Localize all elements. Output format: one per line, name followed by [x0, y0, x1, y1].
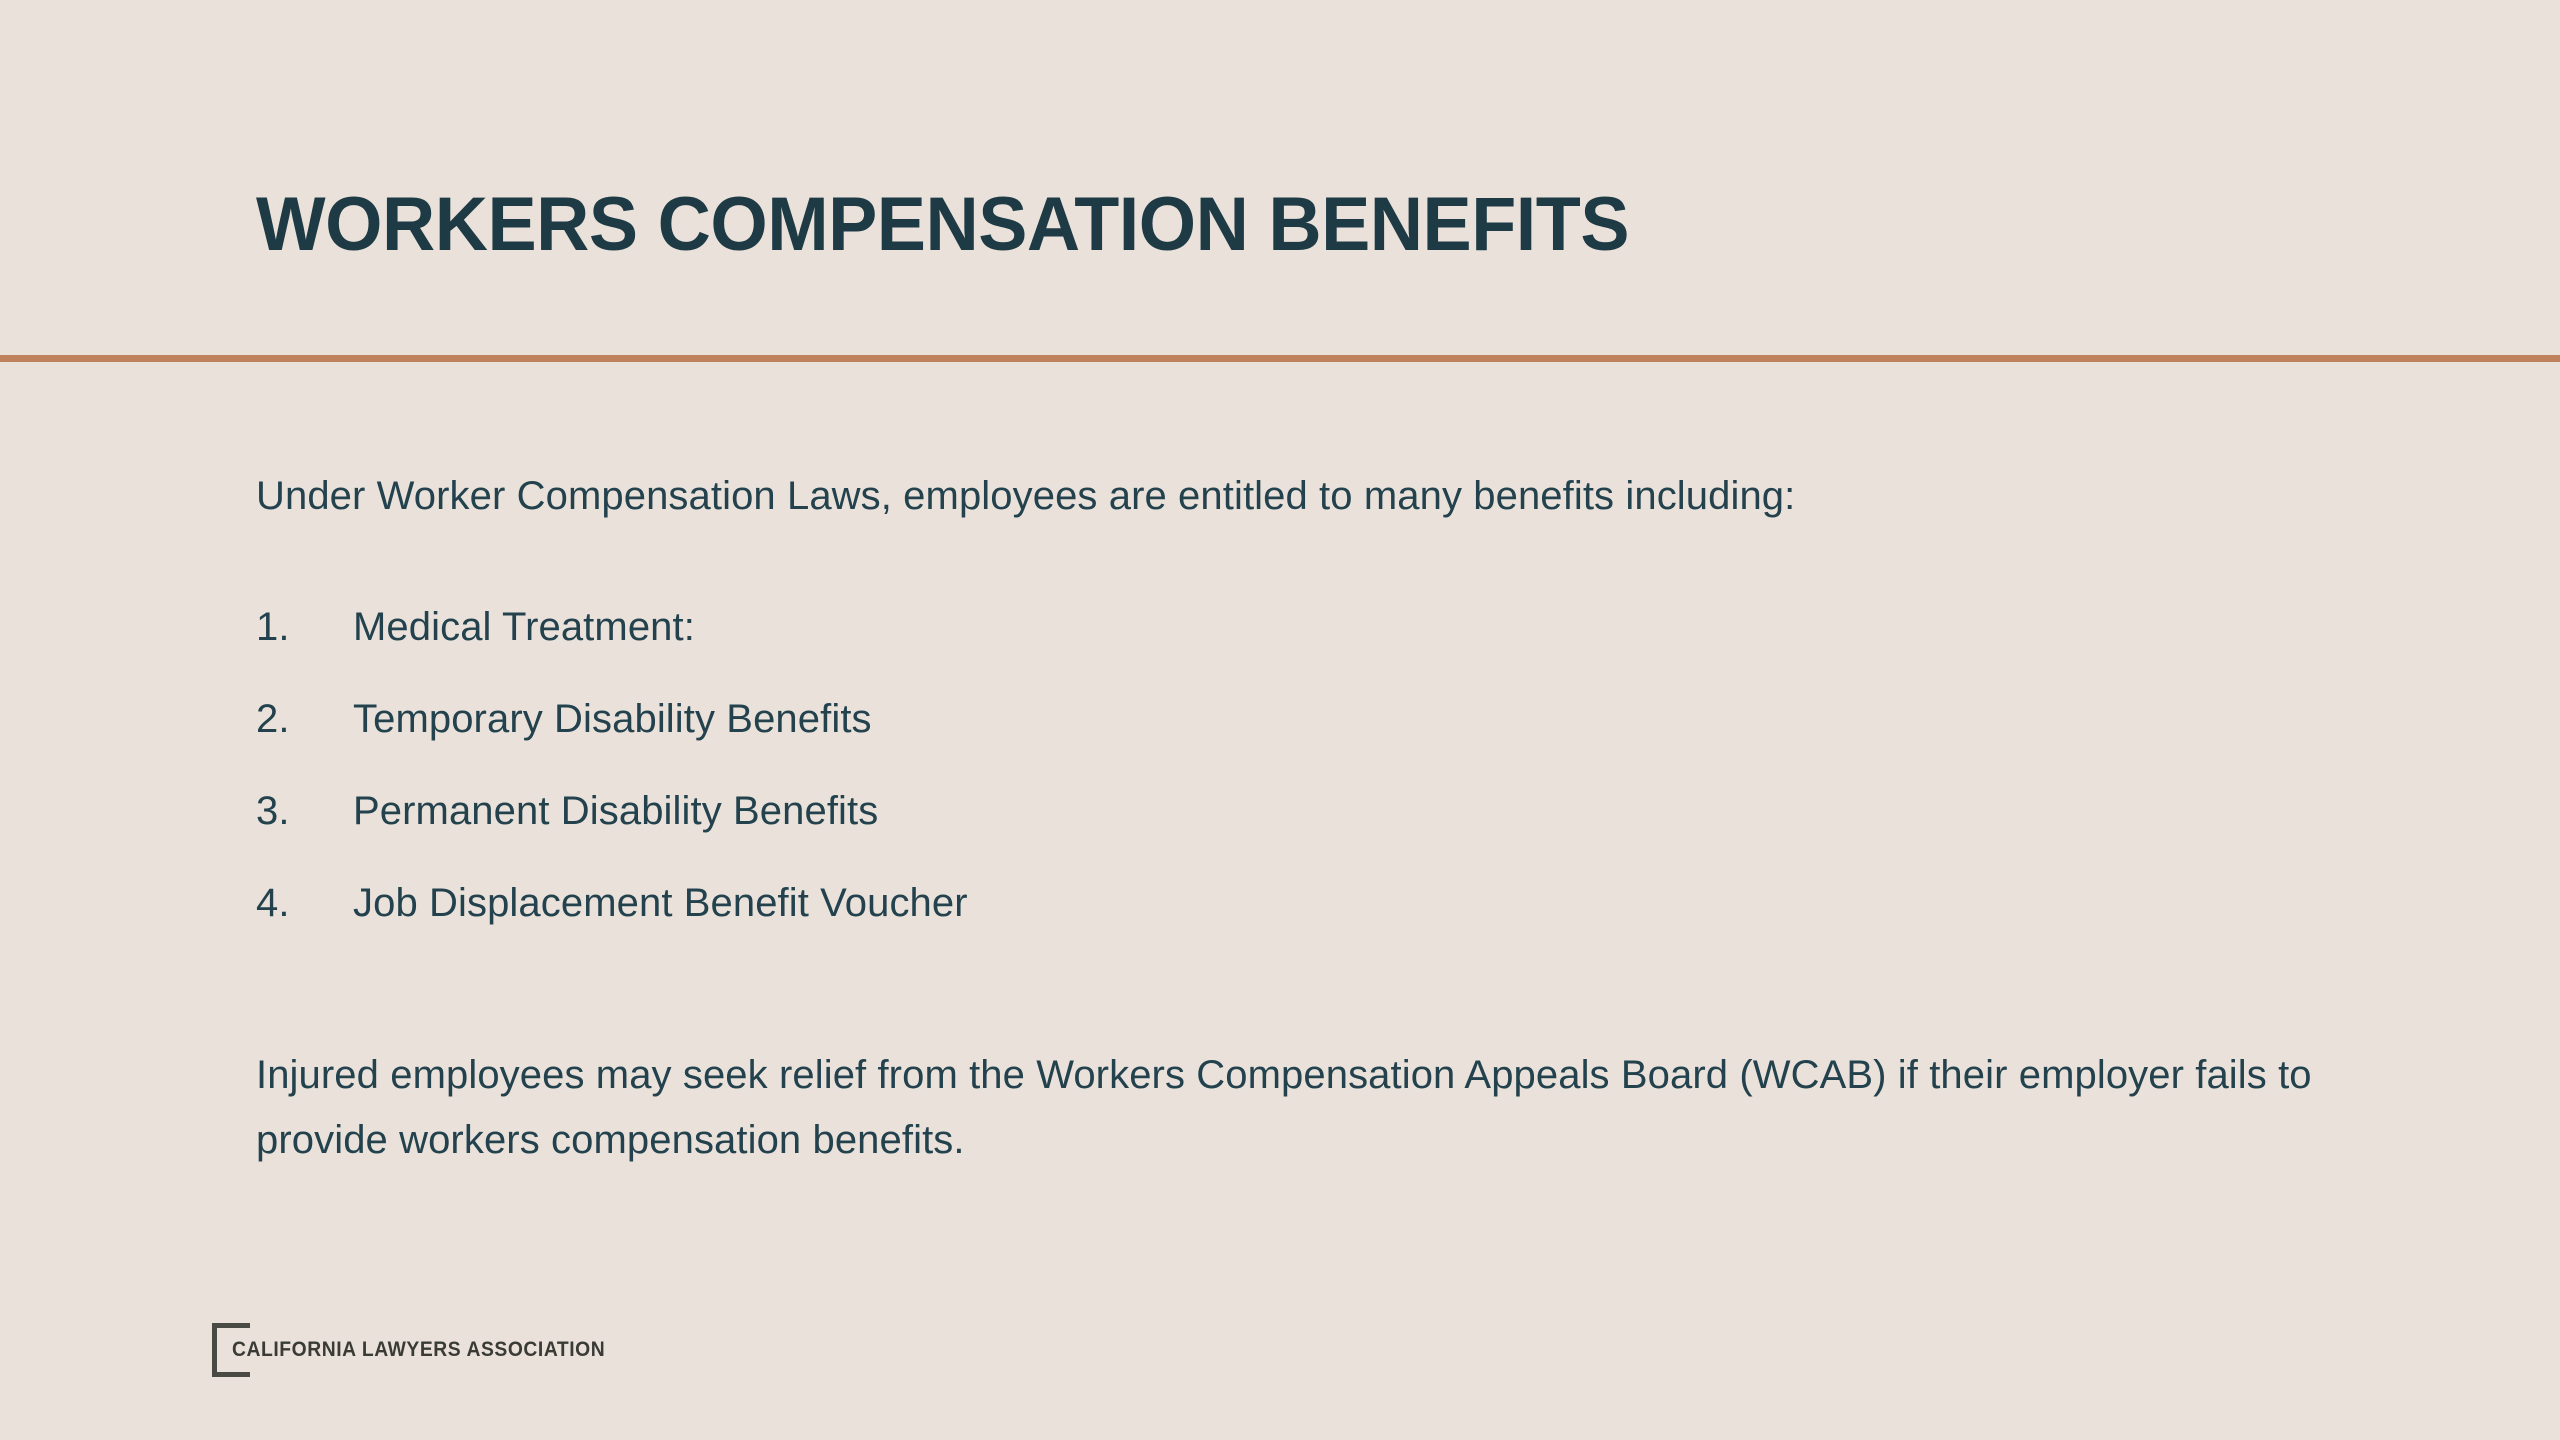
slide-body: Under Worker Compensation Laws, employee…	[256, 468, 2456, 1173]
intro-paragraph: Under Worker Compensation Laws, employee…	[256, 468, 2456, 524]
list-item: 1. Medical Treatment:	[256, 603, 2456, 651]
list-item: 3. Permanent Disability Benefits	[256, 787, 2456, 835]
list-item-number: 1.	[256, 603, 353, 651]
closing-paragraph: Injured employees may seek relief from t…	[256, 1043, 2316, 1173]
list-item-label: Permanent Disability Benefits	[353, 787, 2456, 835]
title-block: WORKERS COMPENSATION BENEFITS	[0, 0, 2560, 360]
list-item-label: Temporary Disability Benefits	[353, 695, 2456, 743]
list-item-number: 4.	[256, 879, 353, 927]
benefits-list: 1. Medical Treatment: 2. Temporary Disab…	[256, 603, 2456, 927]
list-item-number: 2.	[256, 695, 353, 743]
list-item-label: Medical Treatment:	[353, 603, 2456, 651]
slide: WORKERS COMPENSATION BENEFITS Under Work…	[0, 0, 2560, 1440]
page-title: WORKERS COMPENSATION BENEFITS	[256, 182, 1629, 268]
list-item: 4. Job Displacement Benefit Voucher	[256, 879, 2456, 927]
list-item-label: Job Displacement Benefit Voucher	[353, 879, 2456, 927]
logo-wordmark: CALIFORNIA LAWYERS ASSOCIATION	[232, 1338, 605, 1362]
title-divider-rule	[0, 355, 2560, 362]
list-item-number: 3.	[256, 787, 353, 835]
list-item: 2. Temporary Disability Benefits	[256, 695, 2456, 743]
california-lawyers-association-logo: CALIFORNIA LAWYERS ASSOCIATION	[212, 1322, 638, 1378]
